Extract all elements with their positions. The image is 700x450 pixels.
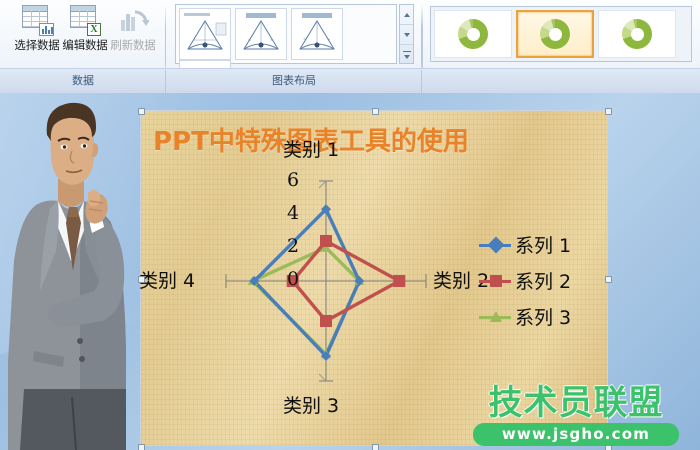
legend-label-series-2: 系列 2 <box>515 267 571 297</box>
axis-tick-4: 4 <box>287 202 299 224</box>
group-label-data-text: 数据 <box>0 71 166 91</box>
resize-handle-e[interactable] <box>605 276 612 283</box>
chart-style-thumb[interactable] <box>434 10 512 58</box>
group-divider-bottom-2 <box>421 70 422 93</box>
svg-text:~: ~ <box>303 37 306 43</box>
chart-styles-gallery[interactable] <box>430 6 692 62</box>
series-1-diamond-icon <box>488 237 505 254</box>
chart-layout-thumb[interactable]: ~ ~ <box>291 8 343 60</box>
more-bar-icon <box>403 51 411 52</box>
select-data-button[interactable]: 选择数据 <box>14 2 60 64</box>
select-data-icon <box>20 4 54 36</box>
series-1-polygon <box>254 209 359 356</box>
gallery-more-button[interactable] <box>400 45 413 64</box>
legend-label-series-3: 系列 3 <box>515 303 571 333</box>
chart-legend[interactable]: 系列 1 系列 2 系列 3 <box>479 231 585 339</box>
legend-item-series-1[interactable]: 系列 1 <box>479 231 585 267</box>
watermark-url: www.jsgho.com <box>473 423 679 446</box>
group-divider-bottom-1 <box>165 70 166 93</box>
scroll-up-button[interactable] <box>400 5 413 25</box>
axis-tick-0: 0 <box>287 268 299 290</box>
edit-data-icon: X <box>68 4 102 36</box>
more-icon <box>404 55 410 59</box>
category-label-4: 类别 4 <box>139 266 195 293</box>
resize-handle-sw[interactable] <box>138 444 145 450</box>
scroll-down-icon <box>404 33 410 37</box>
resize-handle-nw[interactable] <box>138 108 145 115</box>
radar-plot-area: 6 4 2 0 类别 1 类别 2 类别 3 类别 4 <box>161 163 491 413</box>
gallery-scroll-buttons[interactable] <box>399 4 414 64</box>
slide-canvas[interactable]: PPT中特殊图表工具的使用 <box>0 93 700 450</box>
group-label-layout-text: 图表布局 <box>166 71 422 91</box>
edit-data-button[interactable]: X 编辑数据 <box>62 2 108 64</box>
watermark: 技术员联盟 www.jsgho.com <box>460 384 692 446</box>
axis-tick-2: 2 <box>287 235 299 257</box>
watermark-brand: 技术员联盟 <box>460 384 692 422</box>
businessman-illustration <box>6 101 146 450</box>
chart-style-thumb[interactable] <box>598 10 676 58</box>
resize-handle-ne[interactable] <box>605 108 612 115</box>
chart-style-thumb-selected[interactable] <box>516 10 594 58</box>
refresh-data-label: 刷新数据 <box>110 37 156 53</box>
series-2-square-icon <box>490 275 502 287</box>
chart-layout-thumb[interactable] <box>179 8 231 60</box>
refresh-data-button[interactable]: 刷新数据 <box>110 2 156 64</box>
chart-title: PPT中特殊图表工具的使用 <box>153 121 593 158</box>
resize-handle-w[interactable] <box>138 276 145 283</box>
chart-layout-gallery[interactable]: ~ ~ ~ ~ <box>175 4 397 64</box>
svg-text:~: ~ <box>327 37 330 43</box>
ppt-chart-tools-window: 选择数据 X 编辑数据 <box>0 0 700 450</box>
ribbon: 选择数据 X 编辑数据 <box>0 0 700 93</box>
scroll-down-button[interactable] <box>400 25 413 45</box>
svg-text:~: ~ <box>248 38 251 44</box>
legend-label-series-1: 系列 1 <box>515 231 571 261</box>
series-3-triangle-icon <box>490 311 502 322</box>
scroll-up-icon <box>404 13 410 17</box>
category-label-3: 类别 3 <box>283 391 339 418</box>
legend-item-series-2[interactable]: 系列 2 <box>479 267 585 303</box>
select-data-label: 选择数据 <box>14 37 60 53</box>
edit-data-label: 编辑数据 <box>62 37 108 53</box>
refresh-data-icon <box>116 4 150 36</box>
category-label-1: 类别 1 <box>283 135 339 162</box>
donut-chart-icon <box>458 19 488 49</box>
donut-chart-icon <box>540 19 570 49</box>
legend-item-series-3[interactable]: 系列 3 <box>479 303 585 339</box>
axis-tick-6: 6 <box>287 169 299 191</box>
svg-text:~: ~ <box>270 38 273 44</box>
resize-handle-s[interactable] <box>372 444 379 450</box>
series-3-markers <box>248 243 365 359</box>
chart-layout-thumb[interactable]: ~ ~ <box>235 8 287 60</box>
donut-chart-icon <box>622 19 652 49</box>
resize-handle-n[interactable] <box>372 108 379 115</box>
